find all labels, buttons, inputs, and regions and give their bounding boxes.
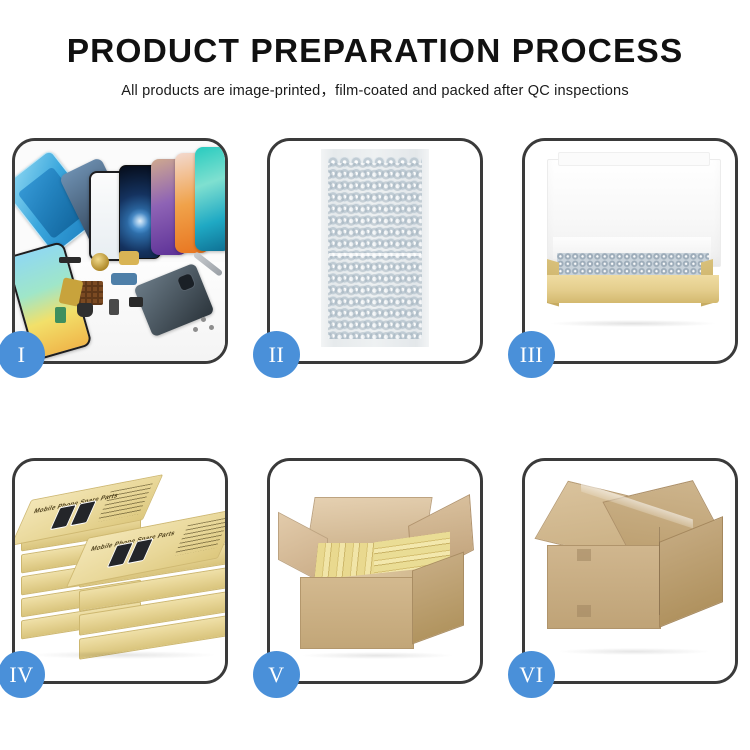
stack-shadow [31, 651, 215, 659]
flex-cable-part-c [119, 251, 139, 265]
step-panel-1[interactable]: I [12, 138, 228, 364]
carton-hand-hole-top [577, 549, 591, 561]
header: PRODUCT PREPARATION PROCESS All products… [0, 34, 750, 100]
phone-screen-teal [195, 147, 225, 251]
box-stack: Mobile Phone Spare Parts Mobile Phone Sp… [15, 461, 225, 681]
sealed-carton-front-face [547, 545, 661, 629]
screw-part-3 [193, 327, 198, 332]
sim-tray-part [55, 307, 66, 323]
battery-part [109, 299, 119, 315]
step-image-stacked-boxes: Mobile Phone Spare Parts Mobile Phone Sp… [15, 461, 225, 681]
step-panel-3[interactable]: III [522, 138, 738, 364]
step-badge-1: I [0, 331, 45, 378]
earpiece-part [59, 257, 81, 263]
step-image-sealed-carton [525, 461, 735, 681]
step-image-products [15, 141, 225, 361]
carton-shadow [302, 652, 452, 659]
sealed-carton-corner-edge [659, 527, 660, 615]
camera-module-part [129, 297, 143, 307]
page-subtitle: All products are image-printed，film-coat… [0, 79, 750, 100]
step-image-filled-carton [270, 461, 480, 681]
carton-hand-hole-bottom [577, 605, 591, 617]
sealed-carton-shadow [559, 648, 709, 655]
step-panel-4[interactable]: Mobile Phone Spare Parts Mobile Phone Sp… [12, 458, 228, 684]
step-badge-6: VI [508, 651, 555, 698]
bubble-grid-offset [328, 163, 422, 339]
box-spec-lines-front [174, 517, 225, 556]
flex-cable-part-b [111, 273, 137, 285]
speaker-part [77, 303, 93, 317]
steps-grid: I II III [12, 138, 738, 684]
step-panel-2[interactable]: II [267, 138, 483, 364]
carton-front-face [300, 577, 414, 649]
step-image-bubble-wrap [270, 141, 480, 361]
box-front-panel [547, 275, 719, 303]
product-preparation-infographic: PRODUCT PREPARATION PROCESS All products… [0, 0, 750, 750]
step-panel-5[interactable]: V [267, 458, 483, 684]
step-image-inner-box [525, 141, 735, 361]
box-spec-lines-back [97, 483, 153, 522]
screw-part-2 [209, 325, 214, 330]
page-title: PRODUCT PREPARATION PROCESS [0, 34, 750, 70]
wrap-seam [329, 253, 421, 256]
step-badge-5: V [253, 651, 300, 698]
box-shadow [551, 320, 715, 327]
step-badge-2: II [253, 331, 300, 378]
step-badge-4: IV [0, 651, 45, 698]
speaker-coil-part [91, 253, 109, 271]
step-panel-6[interactable]: VI [522, 458, 738, 684]
step-badge-3: III [508, 331, 555, 378]
screw-part-1 [201, 317, 206, 322]
